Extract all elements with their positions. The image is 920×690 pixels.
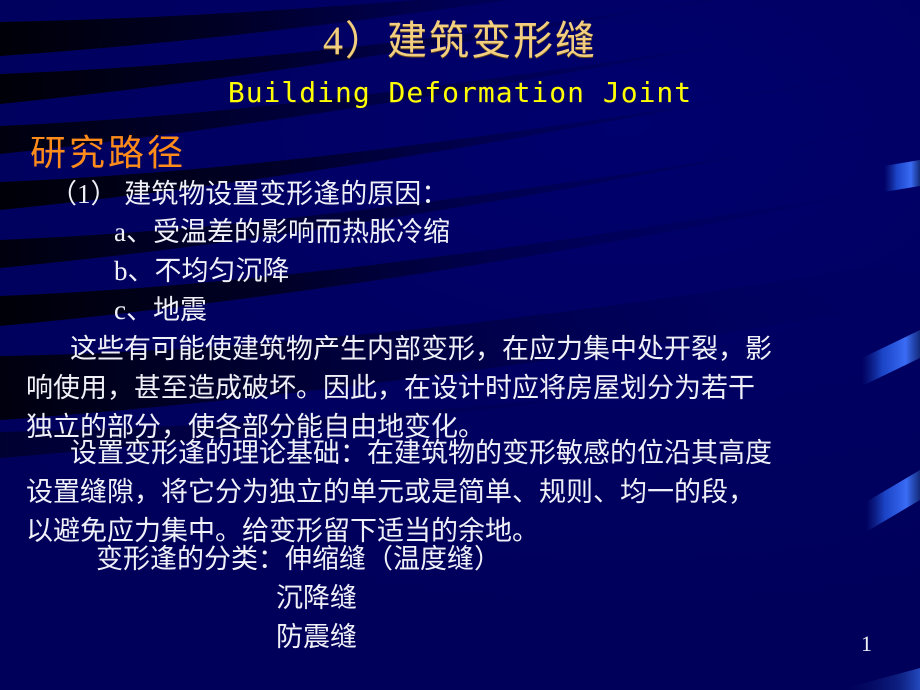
page-subtitle: Building Deformation Joint [0,76,920,110]
classification-item-settlement-joint: 沉降缝 [26,579,920,618]
list-item-cause-header: （1） 建筑物设置变形逢的原因： [26,175,920,214]
paragraph-theory-line-1: 设置变形逢的理论基础：在建筑物的变形敏感的位沿其高度 [26,434,901,473]
classification-header: 变形逢的分类：伸缩缝（温度缝） [26,540,920,579]
paragraph-theory-line-2: 设置缝隙，将它分为独立的单元或是简单、规则、均一的段， [26,473,901,512]
list-item-cause-a: a、受温差的影响而热胀冷缩 [26,213,920,252]
paragraph-effects: 这些有可能使建筑物产生内部变形，在应力集中处开裂，影 响使用，甚至造成破坏。因此… [26,330,901,447]
presentation-slide: 4）建筑变形缝 Building Deformation Joint 研究路径 … [0,0,920,690]
list-item-cause-b: b、不均匀沉降 [26,252,920,291]
paragraph-theory: 设置变形逢的理论基础：在建筑物的变形敏感的位沿其高度 设置缝隙，将它分为独立的单… [26,434,901,551]
list-item-cause-c: c、地震 [26,291,920,330]
paragraph-effects-line-2: 响使用，甚至造成破坏。因此，在设计时应将房屋划分为若干 [26,369,901,408]
paragraph-effects-line-1: 这些有可能使建筑物产生内部变形，在应力集中处开裂，影 [26,330,901,369]
page-title: 4）建筑变形缝 [0,14,920,68]
page-number: 1 [861,632,872,656]
section-heading: 研究路径 [30,130,186,176]
classification-item-seismic-joint: 防震缝 [26,618,920,657]
